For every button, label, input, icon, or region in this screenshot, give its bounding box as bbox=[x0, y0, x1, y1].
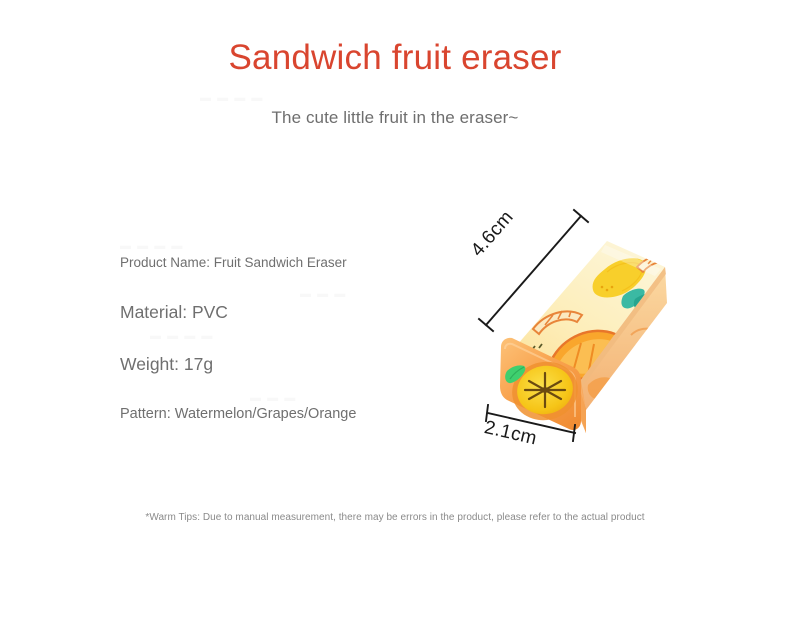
spec-pattern: Pattern: Watermelon/Grapes/Orange bbox=[120, 406, 356, 422]
page-title: Sandwich fruit eraser bbox=[0, 38, 790, 78]
page-subtitle: The cute little fruit in the eraser~ bbox=[0, 108, 790, 128]
spec-material: Material: PVC bbox=[120, 302, 228, 323]
footer-warm-tip: *Warm Tips: Due to manual measurement, t… bbox=[0, 512, 790, 523]
spec-product-name: Product Name: Fruit Sandwich Eraser bbox=[120, 255, 347, 270]
product-illustration: 4.6cm 2.1cm bbox=[455, 195, 700, 475]
product-infographic: ▬ ▬ ▬ ▬ ▬ ▬ ▬ ▬ ▬ ▬ ▬ ▬ ▬ ▬ ▬ ▬ ▬ ▬ Sand… bbox=[0, 0, 790, 619]
spec-weight: Weight: 17g bbox=[120, 354, 213, 375]
